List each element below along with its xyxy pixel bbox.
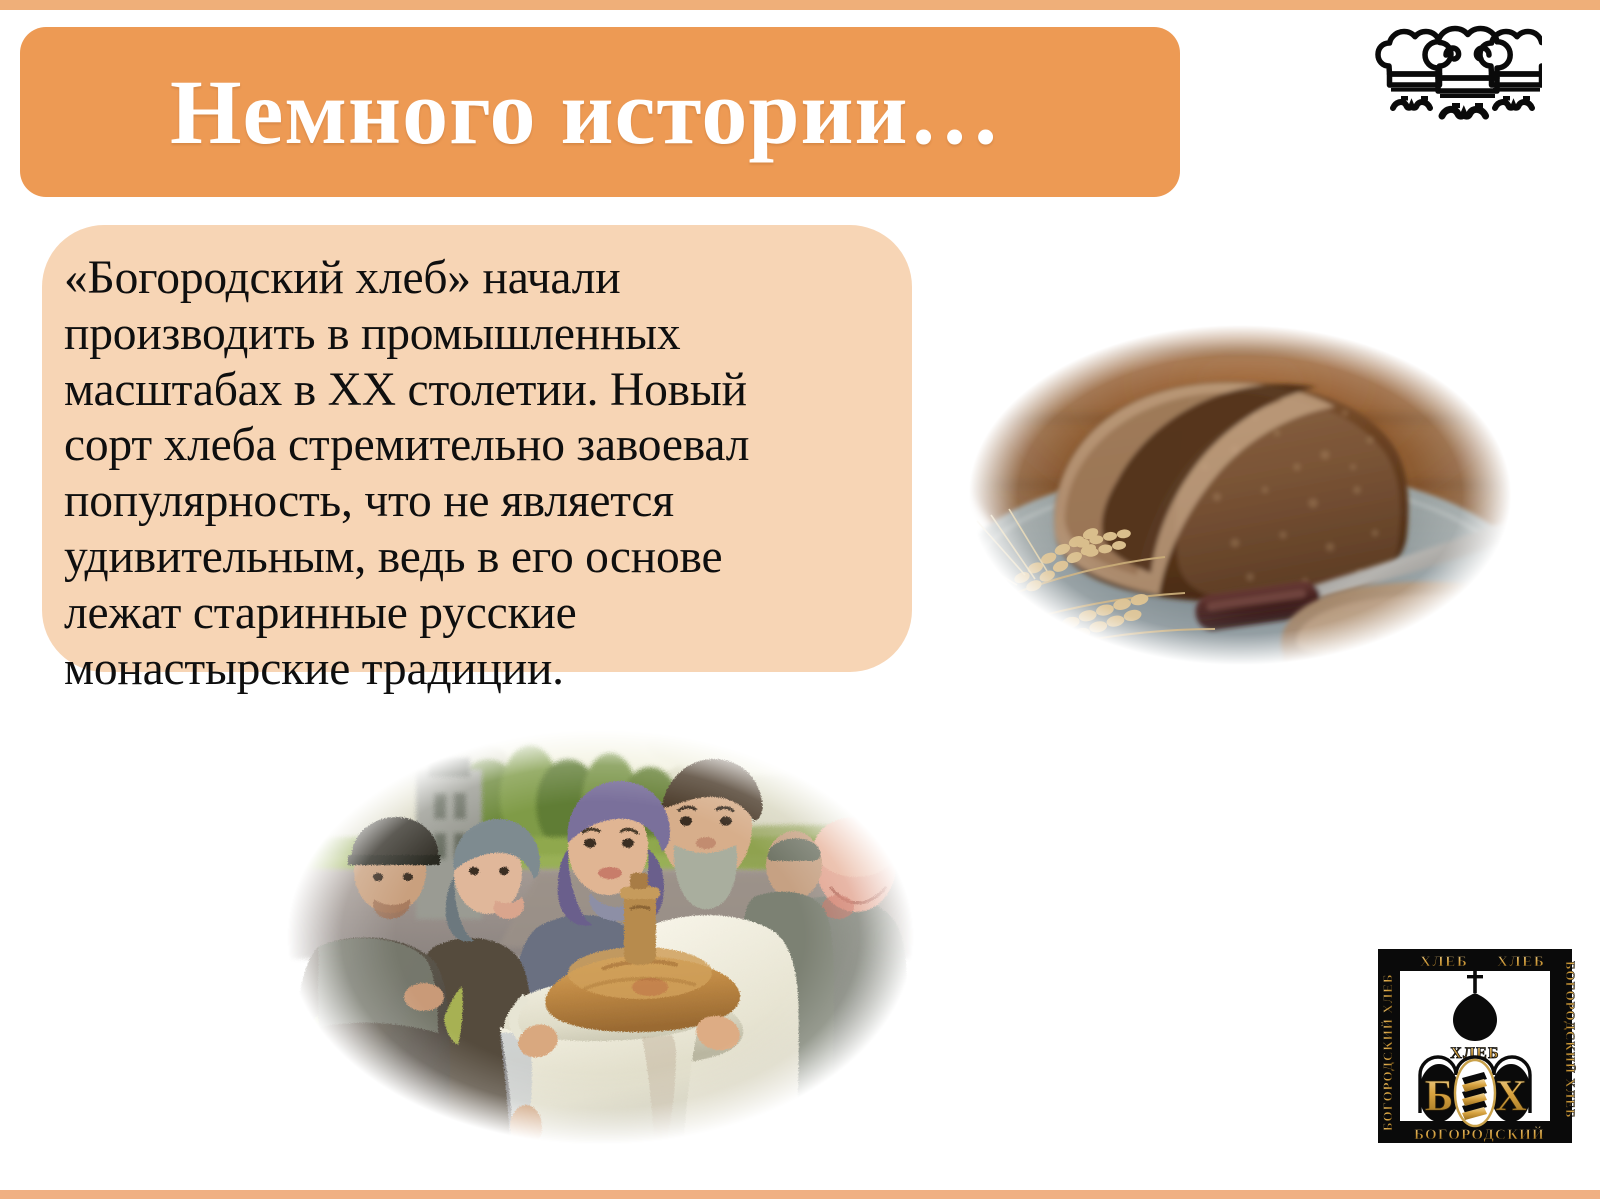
top-accent-bar xyxy=(0,0,1600,10)
three-chef-hats-icon xyxy=(1372,24,1542,124)
history-body-text: «Богородский хлеб» начали производить в … xyxy=(64,251,882,698)
logo-monogram-h: Х xyxy=(1495,1071,1527,1120)
logo-monogram-b: Б xyxy=(1424,1071,1453,1120)
logo-top-right-word: ХЛЕБ xyxy=(1497,954,1545,970)
logo-bottom-word: БОГОРОДСКИЙ xyxy=(1414,1126,1545,1143)
slide-canvas: Немного истории… xyxy=(0,0,1600,1200)
title-banner: Немного истории… xyxy=(20,27,1180,197)
history-text-card: «Богородский хлеб» начали производить в … xyxy=(42,225,912,672)
page-title: Немного истории… xyxy=(170,66,1002,158)
logo-left-word: БОГОРОДСКИЙ ХЛЕБ xyxy=(1380,973,1395,1131)
logo-right-word: БОГОРОДСКИЙ ХЛЕБ xyxy=(1563,961,1576,1119)
rye-bread-photo xyxy=(905,285,1575,705)
bottom-accent-bar xyxy=(0,1190,1600,1199)
peasants-bread-painting xyxy=(238,697,963,1177)
logo-top-left-word: ХЛЕБ xyxy=(1420,954,1468,970)
bogorodsky-hleb-logo: ХЛЕБ ХЛЕБ БОГОРОДСКИЙ БОГОРОДСКИЙ ХЛЕБ Б… xyxy=(1374,945,1576,1147)
